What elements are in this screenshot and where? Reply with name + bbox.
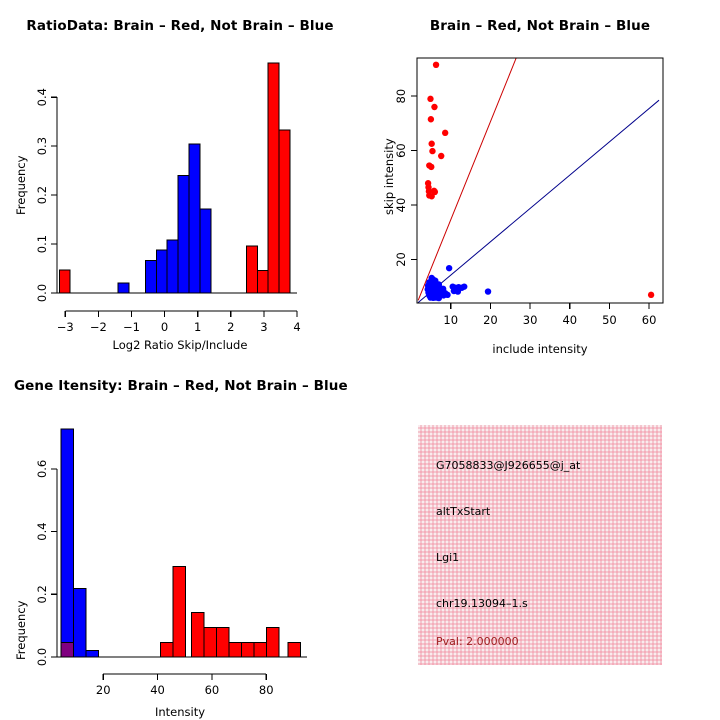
scatter-point [648,292,654,298]
scatter-point [461,283,467,289]
y-tick-label: 0.1 [35,235,49,253]
histogram-bar [267,628,280,657]
brain-reference-line [418,58,516,300]
intensity-scatter-panel: Brain – Red, Not Brain – Blue 1020304050… [360,0,720,360]
histogram-bar [145,261,156,293]
y-tick-label: 80 [394,89,408,104]
y-tick-label: 20 [394,252,408,267]
scatter-point [442,130,448,136]
x-tick-label: 0 [161,320,168,334]
scatter-point [436,295,442,301]
notbrain-reference-line [418,100,659,302]
x-tick-label: 2 [227,320,234,334]
scatter-point [429,148,435,154]
annotation-box: G7058833@J926655@j_at altTxStart Lgi1 ch… [418,425,662,665]
ratio-histogram-plot: 0.00.10.20.30.4−3−2−101234 [0,0,360,360]
ratio-histogram-panel: RatioData: Brain – Red, Not Brain – Blue… [0,0,360,360]
scatter-point [431,104,437,110]
y-tick-label: 0.2 [35,186,49,204]
scatter-point [438,153,444,159]
histogram-bar [268,63,279,293]
x-tick-label: 50 [602,313,617,327]
gene-symbol-text: Lgi1 [436,551,459,564]
histogram-bar [61,429,74,657]
x-tick-label: −1 [123,320,140,334]
y-tick-label: 0.0 [35,648,49,666]
histogram-bar [229,643,242,657]
histogram-bar [257,270,268,293]
scatter-point [428,116,434,122]
scatter-point [455,288,461,294]
histogram-bar [279,130,290,293]
pval-text: Pval: 2.000000 [436,635,519,648]
y-tick-label: 60 [394,143,408,158]
scatter-point [444,292,450,298]
scatter-point [428,164,434,170]
ratio-y-axis-label: Frequency [14,156,28,215]
y-tick-label: 0.4 [35,522,49,540]
scatter-point [428,141,434,147]
histogram-bar [189,144,200,293]
scatter-x-axis-label: include intensity [360,342,720,356]
y-tick-label: 0.4 [35,88,49,106]
x-tick-label: 1 [194,320,201,334]
gene-y-axis-label: Frequency [14,601,28,660]
gene-intensity-panel: Gene Itensity: Brain – Red, Not Brain – … [0,360,360,720]
x-tick-label: 4 [293,320,300,334]
histogram-bar [288,643,301,657]
y-tick-label: 0.2 [35,585,49,603]
scatter-point [446,265,452,271]
histogram-bar [160,643,173,657]
histogram-bar [178,176,189,294]
histogram-bar [246,246,257,293]
y-tick-label: 0.6 [35,460,49,478]
ratio-x-axis-label: Log2 Ratio Skip/Include [0,338,360,352]
scatter-point [433,62,439,68]
x-tick-label: −2 [90,320,107,334]
x-tick-label: 3 [260,320,267,334]
x-tick-label: 30 [523,313,538,327]
x-tick-label: 40 [150,683,165,697]
y-tick-label: 0.0 [35,284,49,302]
scatter-point [428,193,434,199]
histogram-bar [242,643,255,657]
histogram-bar [204,628,217,657]
histogram-bar [156,250,167,293]
x-tick-label: 20 [96,683,111,697]
plot-box [417,58,663,303]
annotation-panel: G7058833@J926655@j_at altTxStart Lgi1 ch… [360,360,720,720]
x-tick-label: 60 [642,313,657,327]
y-tick-label: 40 [394,198,408,213]
scatter-point [485,288,491,294]
scatter-point [427,96,433,102]
gene-intensity-plot: 0.00.20.40.620406080 [0,360,360,720]
histogram-bar [192,612,205,657]
histogram-bar [200,209,211,293]
x-tick-label: 80 [259,683,274,697]
intensity-scatter-plot: 10203040506020406080 [360,0,720,360]
event-type-text: altTxStart [436,505,490,518]
histogram-bar [173,567,186,657]
x-tick-label: 60 [205,683,220,697]
locus-text: chr19.13094–1.s [436,597,528,610]
x-tick-label: −3 [57,320,74,334]
y-tick-label: 0.3 [35,137,49,155]
histogram-bar [254,643,267,657]
gene-x-axis-label: Intensity [0,705,360,719]
histogram-bar [61,643,74,657]
histogram-bar [59,270,70,293]
x-tick-label: 10 [443,313,458,327]
histogram-bar [217,628,230,657]
histogram-bar [118,283,129,293]
scatter-y-axis-label: skip intensity [382,138,396,215]
histogram-bar [86,650,99,657]
x-tick-label: 40 [562,313,577,327]
histogram-bar [74,589,87,657]
probe-id-text: G7058833@J926655@j_at [436,459,580,472]
x-tick-label: 20 [483,313,498,327]
histogram-bar [167,240,178,293]
scatter-content [418,58,659,302]
